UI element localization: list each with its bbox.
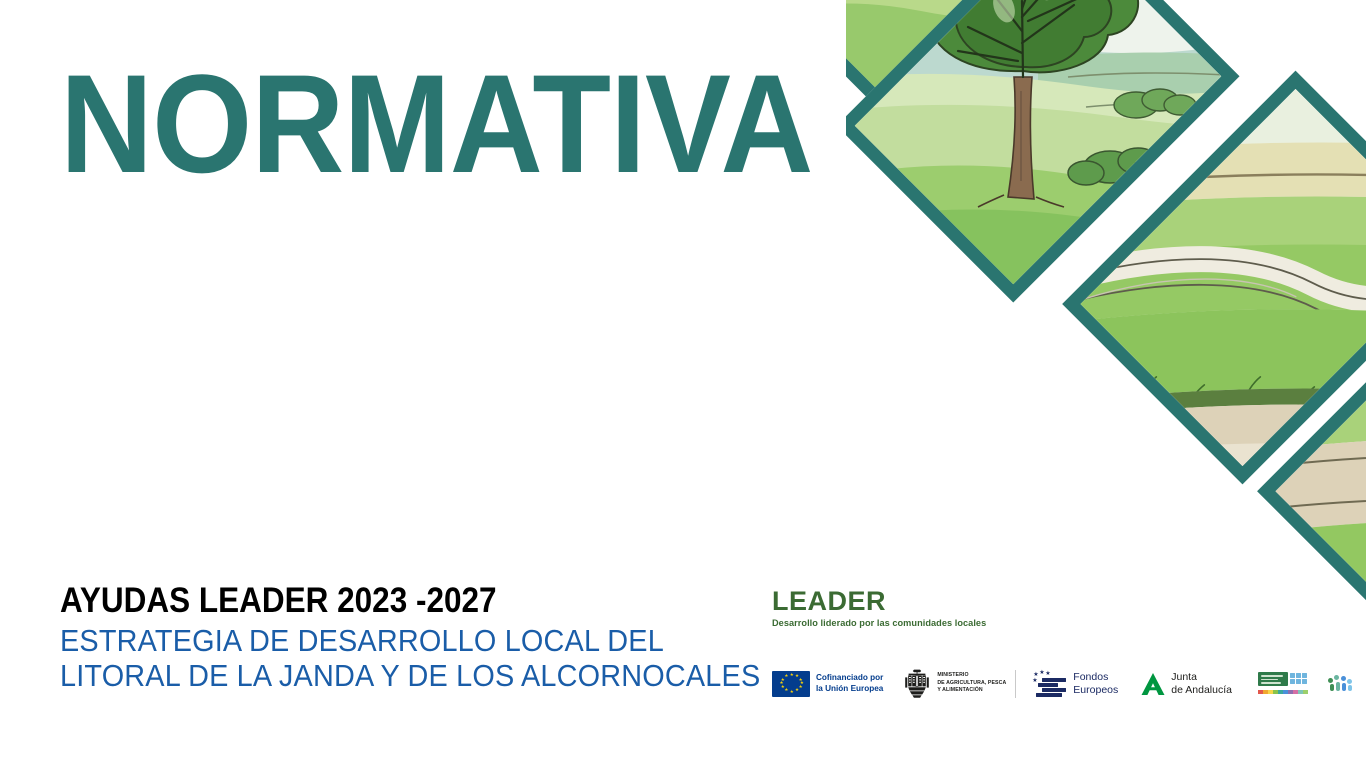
gdr-colour-strip-icon [1258,690,1308,694]
european-union-flag-icon: ★ ★ ★ ★ ★ ★ ★ ★ ★ ★ ★ ★ [772,671,810,697]
leader-tagline: Desarrollo liderado por las comunidades … [772,619,986,628]
junta-de-andalucia-icon [1140,671,1166,697]
funding-logo-strip: ★ ★ ★ ★ ★ ★ ★ ★ ★ ★ ★ ★ Cofinanciado por… [772,668,1356,699]
subtitle-programme-line: AYUDAS LEADER 2023 -2027 [60,582,690,620]
montage-frame-sandy-track [1257,279,1366,640]
fondos-europeos-label: Fondos Europeos [1073,671,1118,696]
leader-logo: LEADER Desarrollo liderado por las comun… [772,588,986,628]
logo-divider [1015,670,1016,698]
eu-cofunding-label: Cofinanciado por la Unión Europea [816,673,883,694]
gdr-mark-icon [1258,672,1308,688]
fondos-europeos-logo: ★ ★ ★ ★ Fondos Europeos [1031,671,1118,697]
ministry-logo: MINISTERIO DE AGRICULTURA, PESCA Y ALIME… [903,668,1006,699]
eu-cofunding-logo: ★ ★ ★ ★ ★ ★ ★ ★ ★ ★ ★ ★ Cofinanciado por… [772,671,883,697]
presentation-slide: NORMATIVA AYUDAS LEADER 2023 -2027 ESTRA… [0,0,1366,768]
grupo-desarrollo-rural-logo [1258,672,1308,695]
title-block: NORMATIVA [60,60,780,189]
montage-frame-green-field [846,0,1025,107]
montage-frame-winding-path [1062,71,1366,485]
leader-wordmark: LEADER [772,588,986,615]
subtitle-block: AYUDAS LEADER 2023 -2027 ESTRATEGIA DE D… [60,582,760,693]
fondos-europeos-icon: ★ ★ ★ ★ [1031,671,1067,697]
junta-de-andalucia-logo: Junta de Andalucía [1140,671,1232,697]
montage-frame-oak-tree [846,0,1240,303]
ministry-label: MINISTERIO DE AGRICULTURA, PESCA Y ALIME… [937,672,1006,695]
red-rural-icon [1326,674,1356,692]
subtitle-strategy-line-2: LITORAL DE LA JANDA Y DE LOS ALCORNOCALE… [60,658,711,693]
spanish-coat-of-arms-icon [903,668,931,699]
junta-de-andalucia-label: Junta de Andalucía [1171,671,1232,697]
subtitle-strategy-line-1: ESTRATEGIA DE DESARROLLO LOCAL DEL [60,623,711,658]
rural-landscape-photo-montage [846,0,1366,640]
red-rural-logo [1326,674,1356,694]
page-title: NORMATIVA [60,60,722,189]
